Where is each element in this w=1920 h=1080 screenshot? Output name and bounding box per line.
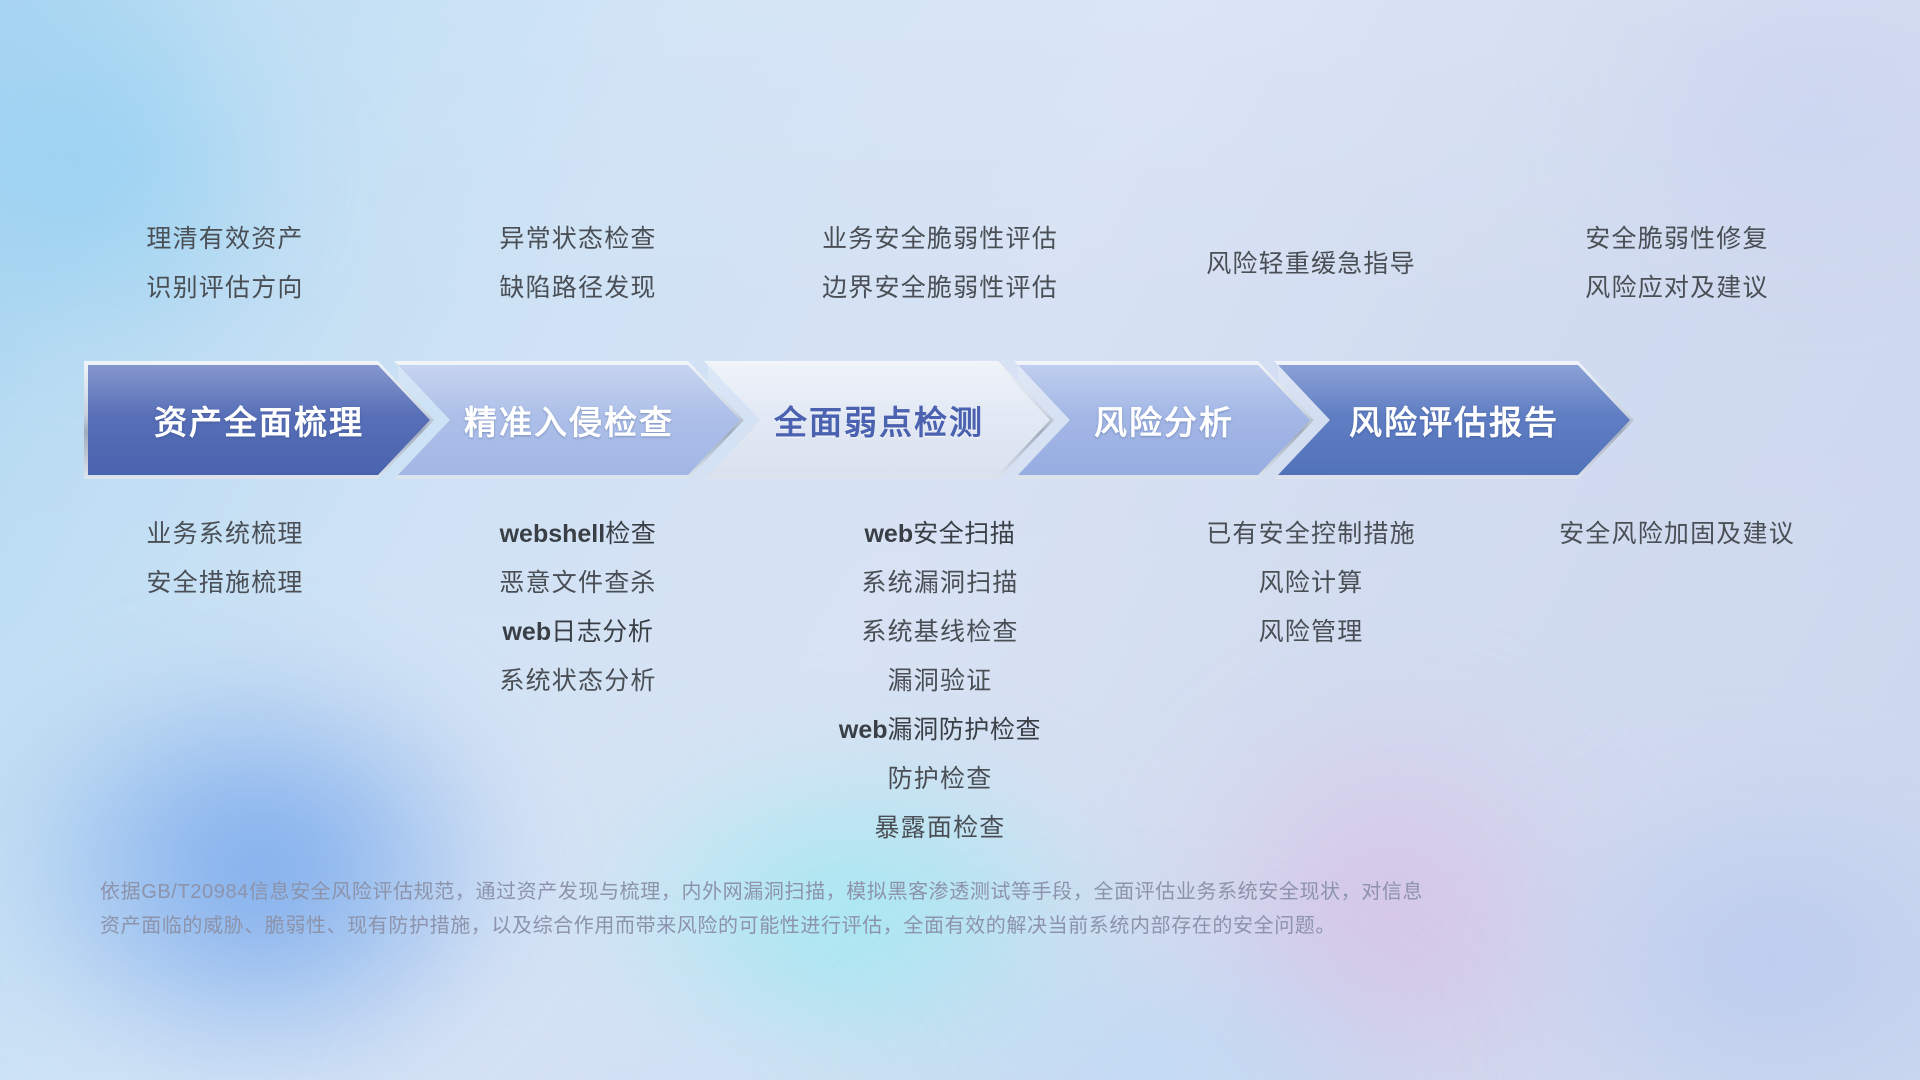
process-step-intrusion-check[interactable]: 精准入侵检查 (398, 365, 740, 475)
bottom-text-item-cn: 日志分析 (551, 618, 653, 646)
process-step-risk-report[interactable]: 风险评估报告 (1278, 365, 1630, 475)
bottom-text-item: 暴露面检查 (720, 804, 1160, 853)
bottom-text-item: web漏洞防护检查 (720, 706, 1160, 755)
bottom-text-band: 业务系统梳理安全措施梳理webshell检查恶意文件查杀web日志分析系统状态分… (0, 510, 1920, 810)
bottom-text-item-latin: web (864, 520, 913, 548)
bottom-text-item: 风险计算 (1091, 559, 1531, 608)
bottom-text-column-risk-report: 安全风险加固及建议 (1457, 510, 1897, 559)
bottom-text-item: 防护检查 (720, 755, 1160, 804)
process-step-asset-inventory[interactable]: 资产全面梳理 (88, 365, 430, 475)
top-text-band: 理清有效资产识别评估方向异常状态检查缺陷路径发现业务安全脆弱性评估边界安全脆弱性… (0, 215, 1920, 335)
bottom-text-item-cn: 安全扫描 (913, 520, 1015, 548)
top-text-item: 风险应对及建议 (1457, 264, 1897, 313)
process-step-label: 风险评估报告 (1349, 396, 1559, 444)
process-step-label: 全面弱点检测 (774, 396, 984, 444)
footer-line-2: 资产面临的威胁、脆弱性、现有防护措施，以及综合作用而带来风险的可能性进行评估，全… (100, 909, 1660, 943)
process-step-label: 精准入侵检查 (464, 396, 674, 444)
top-text-column-risk-report: 安全脆弱性修复风险应对及建议 (1457, 215, 1897, 313)
process-step-risk-analysis[interactable]: 风险分析 (1018, 365, 1310, 475)
infographic: 理清有效资产识别评估方向异常状态检查缺陷路径发现业务安全脆弱性评估边界安全脆弱性… (0, 0, 1920, 1080)
bottom-text-item-latin: webshell (500, 520, 606, 548)
bottom-text-item-cn: 检查 (605, 520, 656, 548)
process-step-label: 资产全面梳理 (154, 396, 364, 444)
process-arrow-band: 资产全面梳理精准入侵检查全面弱点检测风险分析风险评估报告 (0, 365, 1920, 475)
footer-description: 依据GB/T20984信息安全风险评估规范，通过资产发现与梳理，内外网漏洞扫描，… (100, 875, 1660, 943)
bottom-text-item: 风险管理 (1091, 608, 1531, 657)
process-step-label: 风险分析 (1094, 396, 1234, 444)
bottom-text-item-latin: web (839, 716, 888, 744)
top-text-item: 安全脆弱性修复 (1457, 215, 1897, 264)
bottom-text-item-latin: web (502, 618, 551, 646)
bottom-text-item: 安全风险加固及建议 (1457, 510, 1897, 559)
bottom-text-item-cn: 漏洞防护检查 (888, 716, 1042, 744)
footer-line-1: 依据GB/T20984信息安全风险评估规范，通过资产发现与梳理，内外网漏洞扫描，… (100, 875, 1660, 909)
bottom-text-item: 漏洞验证 (720, 657, 1160, 706)
process-step-weakness-detection[interactable]: 全面弱点检测 (708, 365, 1050, 475)
